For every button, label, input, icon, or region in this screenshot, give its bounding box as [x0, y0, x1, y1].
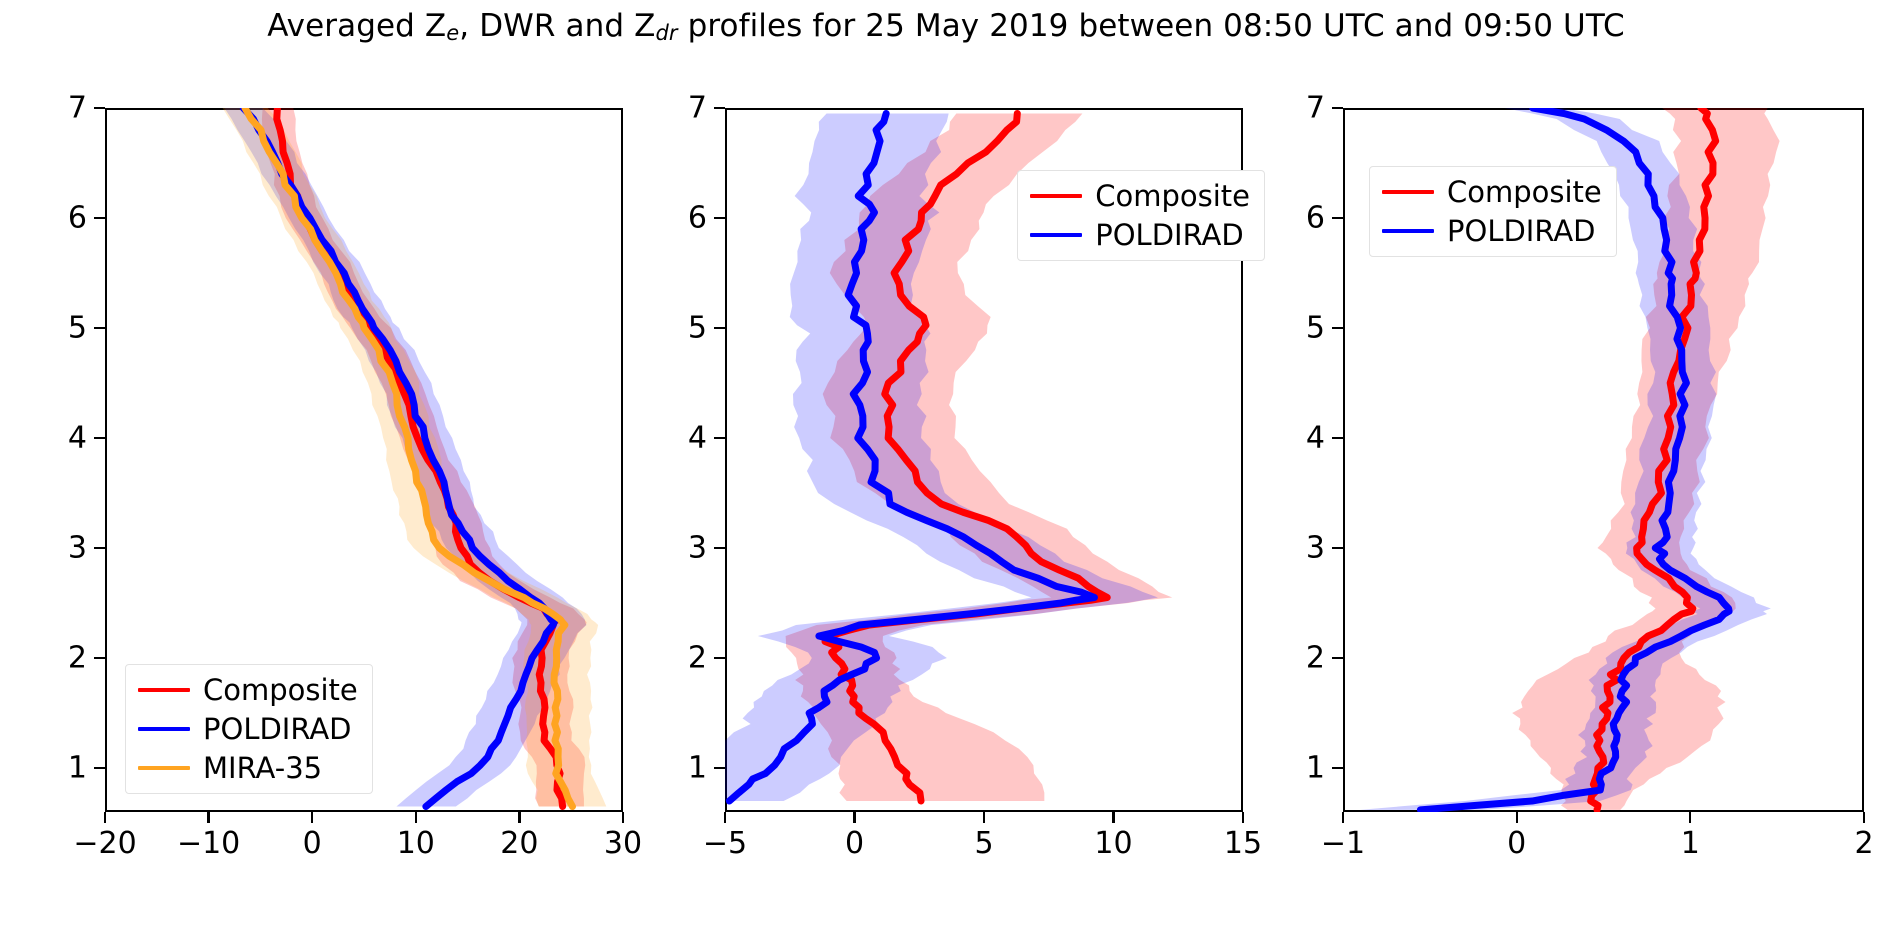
- legend-item-poldirad: POLDIRAD: [1030, 220, 1250, 250]
- legend-label-poldirad: POLDIRAD: [1447, 216, 1596, 246]
- legend-item-composite: Composite: [1030, 181, 1250, 211]
- x-tick-label: 1: [1681, 826, 1700, 861]
- y-tickmark: [1332, 547, 1343, 549]
- y-tick-label: 7: [667, 91, 707, 126]
- y-tick-label: 7: [47, 91, 87, 126]
- title-sub-dr: dr: [655, 21, 677, 45]
- x-tickmark: [518, 812, 520, 823]
- legend-swatch-composite: [1382, 190, 1434, 194]
- legend-swatch-poldirad: [1030, 233, 1082, 237]
- y-tickmark: [94, 657, 105, 659]
- title-mid: , DWR and Z: [459, 8, 655, 44]
- title-sub-e: e: [446, 21, 459, 45]
- y-tickmark: [714, 657, 725, 659]
- x-tick-label: 0: [1507, 826, 1526, 861]
- x-tickmark: [1863, 812, 1865, 823]
- y-tick-label: 2: [1285, 641, 1325, 676]
- figure-title: Averaged Ze, DWR and Zdr profiles for 25…: [0, 8, 1892, 45]
- x-tickmark: [1112, 812, 1114, 823]
- x-tick-label: 20: [500, 826, 538, 861]
- x-tickmark: [1689, 812, 1691, 823]
- y-tick-label: 3: [1285, 531, 1325, 566]
- y-tickmark: [1332, 657, 1343, 659]
- legend-item-mira35: MIRA-35: [138, 753, 358, 783]
- x-tick-label: 10: [397, 826, 435, 861]
- y-tickmark: [94, 327, 105, 329]
- y-tickmark: [1332, 107, 1343, 109]
- legend-label-composite: Composite: [203, 675, 358, 705]
- x-tickmark: [622, 812, 624, 823]
- x-tick-label: −20: [73, 826, 136, 861]
- panel-c-legend[interactable]: Composite POLDIRAD: [1369, 166, 1617, 257]
- y-tickmark: [94, 437, 105, 439]
- x-tickmark: [415, 812, 417, 823]
- legend-swatch-composite: [138, 688, 190, 692]
- y-tickmark: [714, 437, 725, 439]
- y-tick-label: 3: [47, 531, 87, 566]
- y-tickmark: [714, 547, 725, 549]
- y-tickmark: [714, 767, 725, 769]
- y-tick-label: 1: [1285, 751, 1325, 786]
- legend-item-poldirad: POLDIRAD: [1382, 216, 1602, 246]
- legend-swatch-mira35: [138, 766, 190, 770]
- x-tickmark: [1242, 812, 1244, 823]
- y-tickmark: [1332, 767, 1343, 769]
- x-tick-label: −1: [1321, 826, 1365, 861]
- x-tickmark: [724, 812, 726, 823]
- x-tickmark: [207, 812, 209, 823]
- x-tick-label: 10: [1094, 826, 1132, 861]
- y-tick-label: 1: [47, 751, 87, 786]
- x-tick-label: 15: [1224, 826, 1262, 861]
- y-tickmark: [94, 767, 105, 769]
- x-tickmark: [1516, 812, 1518, 823]
- y-tickmark: [714, 107, 725, 109]
- legend-label-poldirad: POLDIRAD: [1095, 220, 1244, 250]
- x-tick-label: 5: [974, 826, 993, 861]
- y-tick-label: 4: [47, 421, 87, 456]
- panel-b-legend[interactable]: Composite POLDIRAD: [1017, 170, 1265, 261]
- y-tick-label: 6: [1285, 201, 1325, 236]
- y-tick-label: 4: [667, 421, 707, 456]
- x-tick-label: 2: [1854, 826, 1873, 861]
- y-tick-label: 5: [1285, 311, 1325, 346]
- x-tickmark: [853, 812, 855, 823]
- y-tick-label: 7: [1285, 91, 1325, 126]
- title-suffix: profiles for 25 May 2019 between 08:50 U…: [678, 8, 1625, 44]
- legend-swatch-poldirad: [1382, 229, 1434, 233]
- y-tick-label: 5: [47, 311, 87, 346]
- y-tick-label: 2: [667, 641, 707, 676]
- x-tickmark: [983, 812, 985, 823]
- panel-a-legend[interactable]: Composite POLDIRAD MIRA-35: [125, 664, 373, 794]
- legend-swatch-composite: [1030, 194, 1082, 198]
- legend-swatch-poldirad: [138, 727, 190, 731]
- y-tickmark: [714, 217, 725, 219]
- y-tickmark: [94, 107, 105, 109]
- y-tickmark: [1332, 327, 1343, 329]
- title-prefix: Averaged Z: [267, 8, 446, 44]
- y-tick-label: 1: [667, 751, 707, 786]
- y-tickmark: [94, 547, 105, 549]
- y-tick-label: 6: [667, 201, 707, 236]
- legend-label-composite: Composite: [1095, 181, 1250, 211]
- y-tick-label: 5: [667, 311, 707, 346]
- y-tick-label: 6: [47, 201, 87, 236]
- x-tickmark: [1342, 812, 1344, 823]
- y-tick-label: 4: [1285, 421, 1325, 456]
- y-tick-label: 3: [667, 531, 707, 566]
- x-tick-label: 0: [303, 826, 322, 861]
- figure-root: Averaged Ze, DWR and Zdr profiles for 25…: [0, 0, 1892, 926]
- panel-b-dwr: −5051015 1234567 (b) DWRC, Ka [dB] Compo…: [725, 108, 1243, 812]
- x-tick-label: −5: [703, 826, 747, 861]
- y-tick-label: 2: [47, 641, 87, 676]
- x-tick-label: −10: [177, 826, 240, 861]
- legend-label-composite: Composite: [1447, 177, 1602, 207]
- panel-a-ze: −20−100102030 1234567 (a) Ze [dBZ] Compo…: [105, 108, 623, 812]
- x-tickmark: [311, 812, 313, 823]
- panel-c-zdr: −1012 1234567 (c) Zdr [dB] Composite POL…: [1343, 108, 1864, 812]
- x-tickmark: [104, 812, 106, 823]
- x-tick-label: 0: [845, 826, 864, 861]
- legend-label-mira35: MIRA-35: [203, 753, 322, 783]
- x-tick-label: 30: [604, 826, 642, 861]
- legend-item-poldirad: POLDIRAD: [138, 714, 358, 744]
- legend-item-composite: Composite: [1382, 177, 1602, 207]
- y-tickmark: [714, 327, 725, 329]
- y-tickmark: [1332, 217, 1343, 219]
- legend-item-composite: Composite: [138, 675, 358, 705]
- legend-label-poldirad: POLDIRAD: [203, 714, 352, 744]
- y-tickmark: [94, 217, 105, 219]
- y-tickmark: [1332, 437, 1343, 439]
